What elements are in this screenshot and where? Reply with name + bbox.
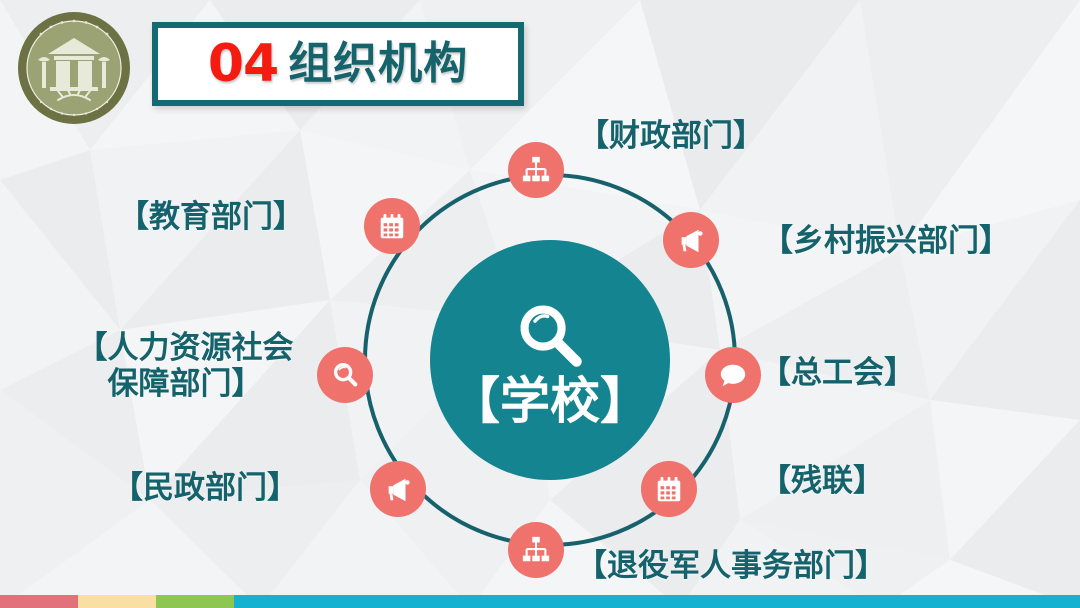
magnifier-icon <box>513 298 587 372</box>
node-finance[interactable] <box>508 142 564 198</box>
organization-structure-diagram: 【学校】 【财政部门】 【乡村振兴部门】 <box>0 0 1080 608</box>
label-federation-of-trade-unions: 【总工会】 <box>760 355 915 391</box>
bar-segment-red <box>0 595 78 608</box>
megaphone-icon <box>383 474 413 504</box>
node-veterans-affairs[interactable] <box>508 522 564 578</box>
magnifier-icon <box>330 360 360 390</box>
label-human-resources-social-security: 【人力资源社会 保障部门】 <box>60 330 310 402</box>
label-veterans-affairs: 【退役军人事务部门】 <box>576 548 886 584</box>
label-civil-affairs: 【民政部门】 <box>112 470 298 506</box>
label-finance: 【财政部门】 <box>578 118 764 154</box>
node-disabled-persons-federation[interactable] <box>641 461 697 517</box>
bottom-color-bar <box>0 595 1080 608</box>
node-human-resources-social-security[interactable] <box>317 347 373 403</box>
org-chart-icon <box>521 155 551 185</box>
bar-segment-green <box>156 595 234 608</box>
node-federation-of-trade-unions[interactable] <box>705 347 761 403</box>
label-rural-revitalization: 【乡村振兴部门】 <box>762 223 1010 259</box>
label-line-1: 【人力资源社会 <box>60 330 310 366</box>
slide-canvas: 04 组织机构 【学校】 【财政部门】 <box>0 0 1080 608</box>
label-education: 【教育部门】 <box>118 199 304 235</box>
calendar-icon <box>377 211 407 241</box>
node-education[interactable] <box>364 198 420 254</box>
bar-segment-yellow <box>78 595 156 608</box>
chat-bubble-icon <box>718 360 748 390</box>
node-civil-affairs[interactable] <box>370 461 426 517</box>
megaphone-icon <box>676 225 706 255</box>
calendar-icon <box>654 474 684 504</box>
bar-segment-cyan <box>234 595 1080 608</box>
hub-label: 【学校】 <box>450 376 650 426</box>
hub-school[interactable]: 【学校】 <box>430 240 670 480</box>
label-line-2: 保障部门】 <box>60 366 310 402</box>
label-disabled-persons-federation: 【残联】 <box>760 463 884 499</box>
node-rural-revitalization[interactable] <box>663 212 719 268</box>
org-chart-icon <box>521 535 551 565</box>
